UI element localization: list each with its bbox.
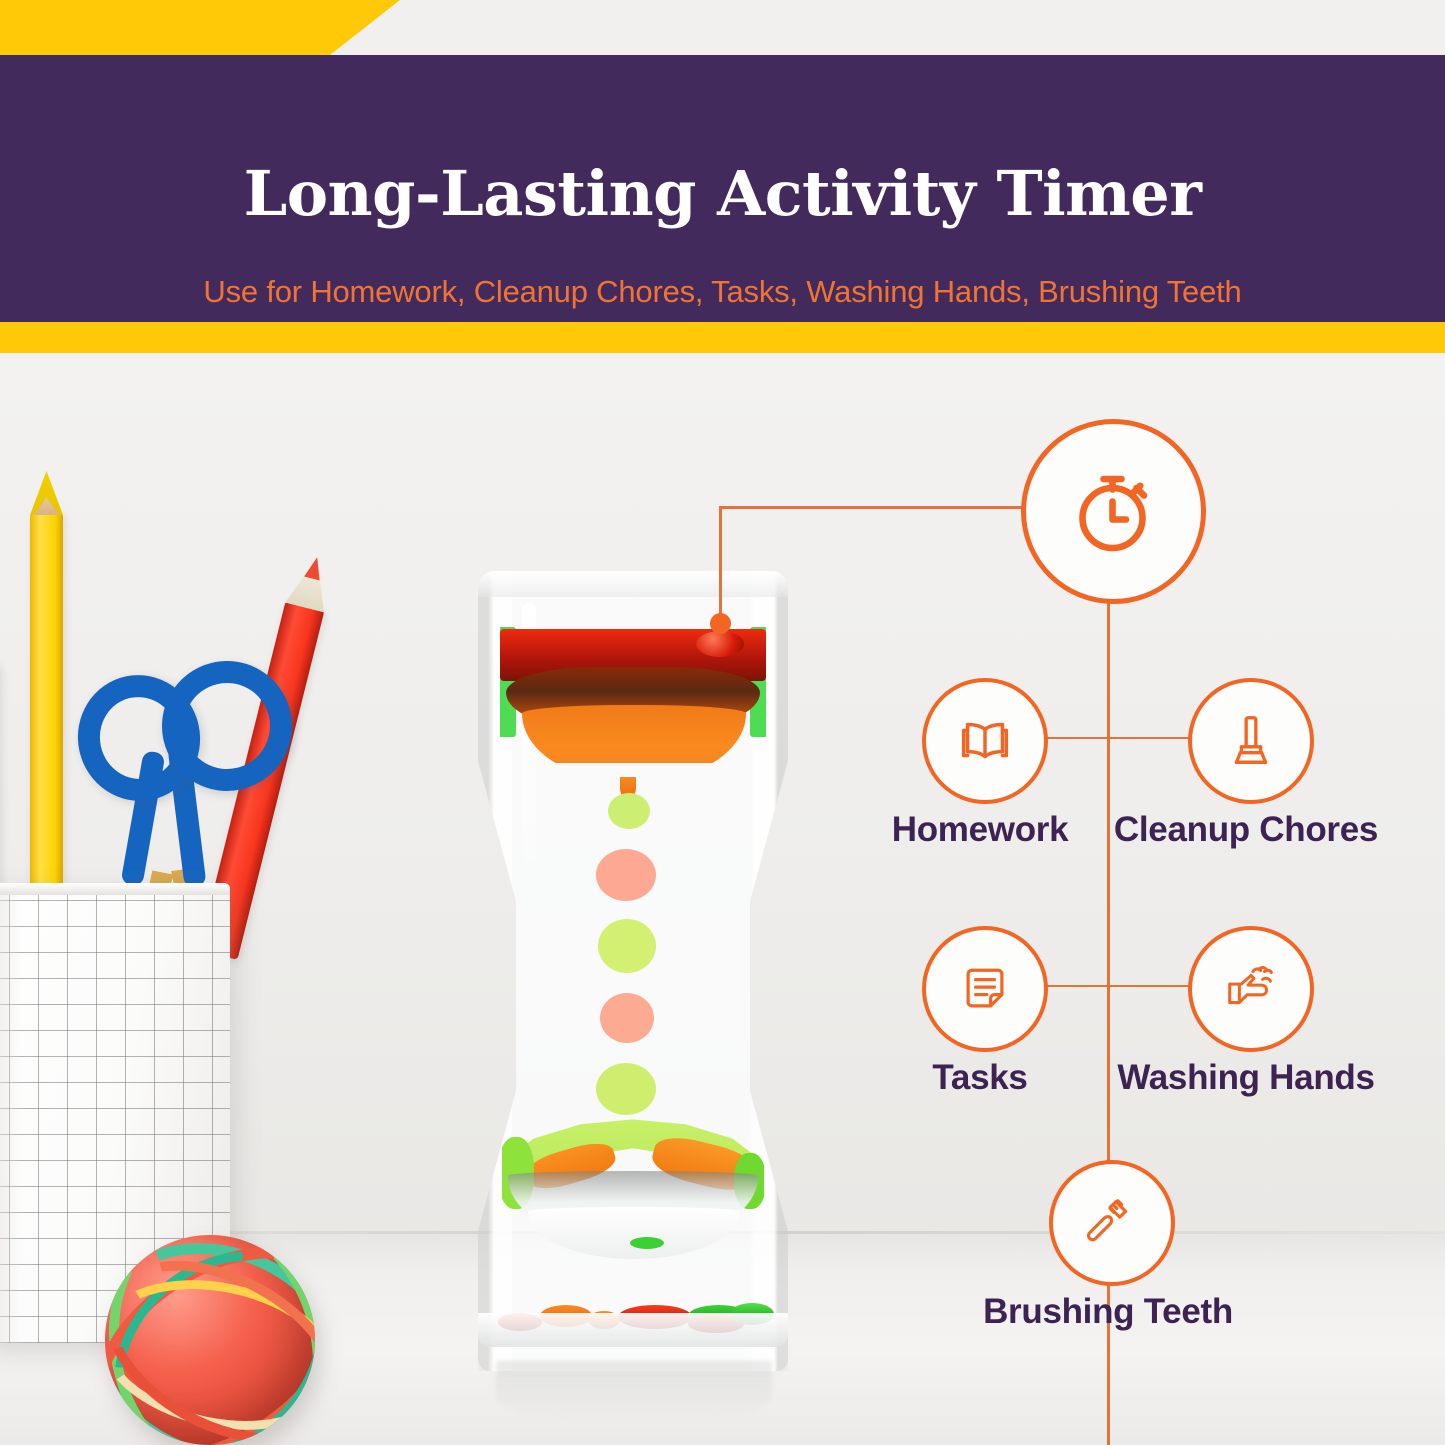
yellow-pencil	[30, 513, 63, 933]
timer-droplet	[598, 919, 656, 973]
yellow-wedge-shape	[0, 0, 400, 55]
page-subtitle: Use for Homework, Cleanup Chores, Tasks,…	[0, 274, 1445, 310]
infographic-page: Long-Lasting Activity Timer Use for Home…	[0, 0, 1445, 1445]
page-title: Long-Lasting Activity Timer	[0, 163, 1445, 225]
timer-droplet	[596, 849, 656, 901]
rubber-band-ball	[105, 1235, 315, 1445]
desk-supplies-group	[0, 413, 400, 1413]
header-banner: Long-Lasting Activity Timer Use for Home…	[0, 55, 1445, 322]
liquid-motion-timer	[478, 571, 788, 1371]
product-photo-stage: Homework Cleanup Chores	[0, 353, 1445, 1445]
timer-droplet	[600, 993, 654, 1043]
timer-top-liquid	[500, 623, 766, 763]
top-strip	[0, 0, 1445, 55]
yellow-divider-bar	[0, 322, 1445, 353]
timer-droplet	[608, 793, 650, 829]
timer-droplet	[596, 1063, 656, 1115]
